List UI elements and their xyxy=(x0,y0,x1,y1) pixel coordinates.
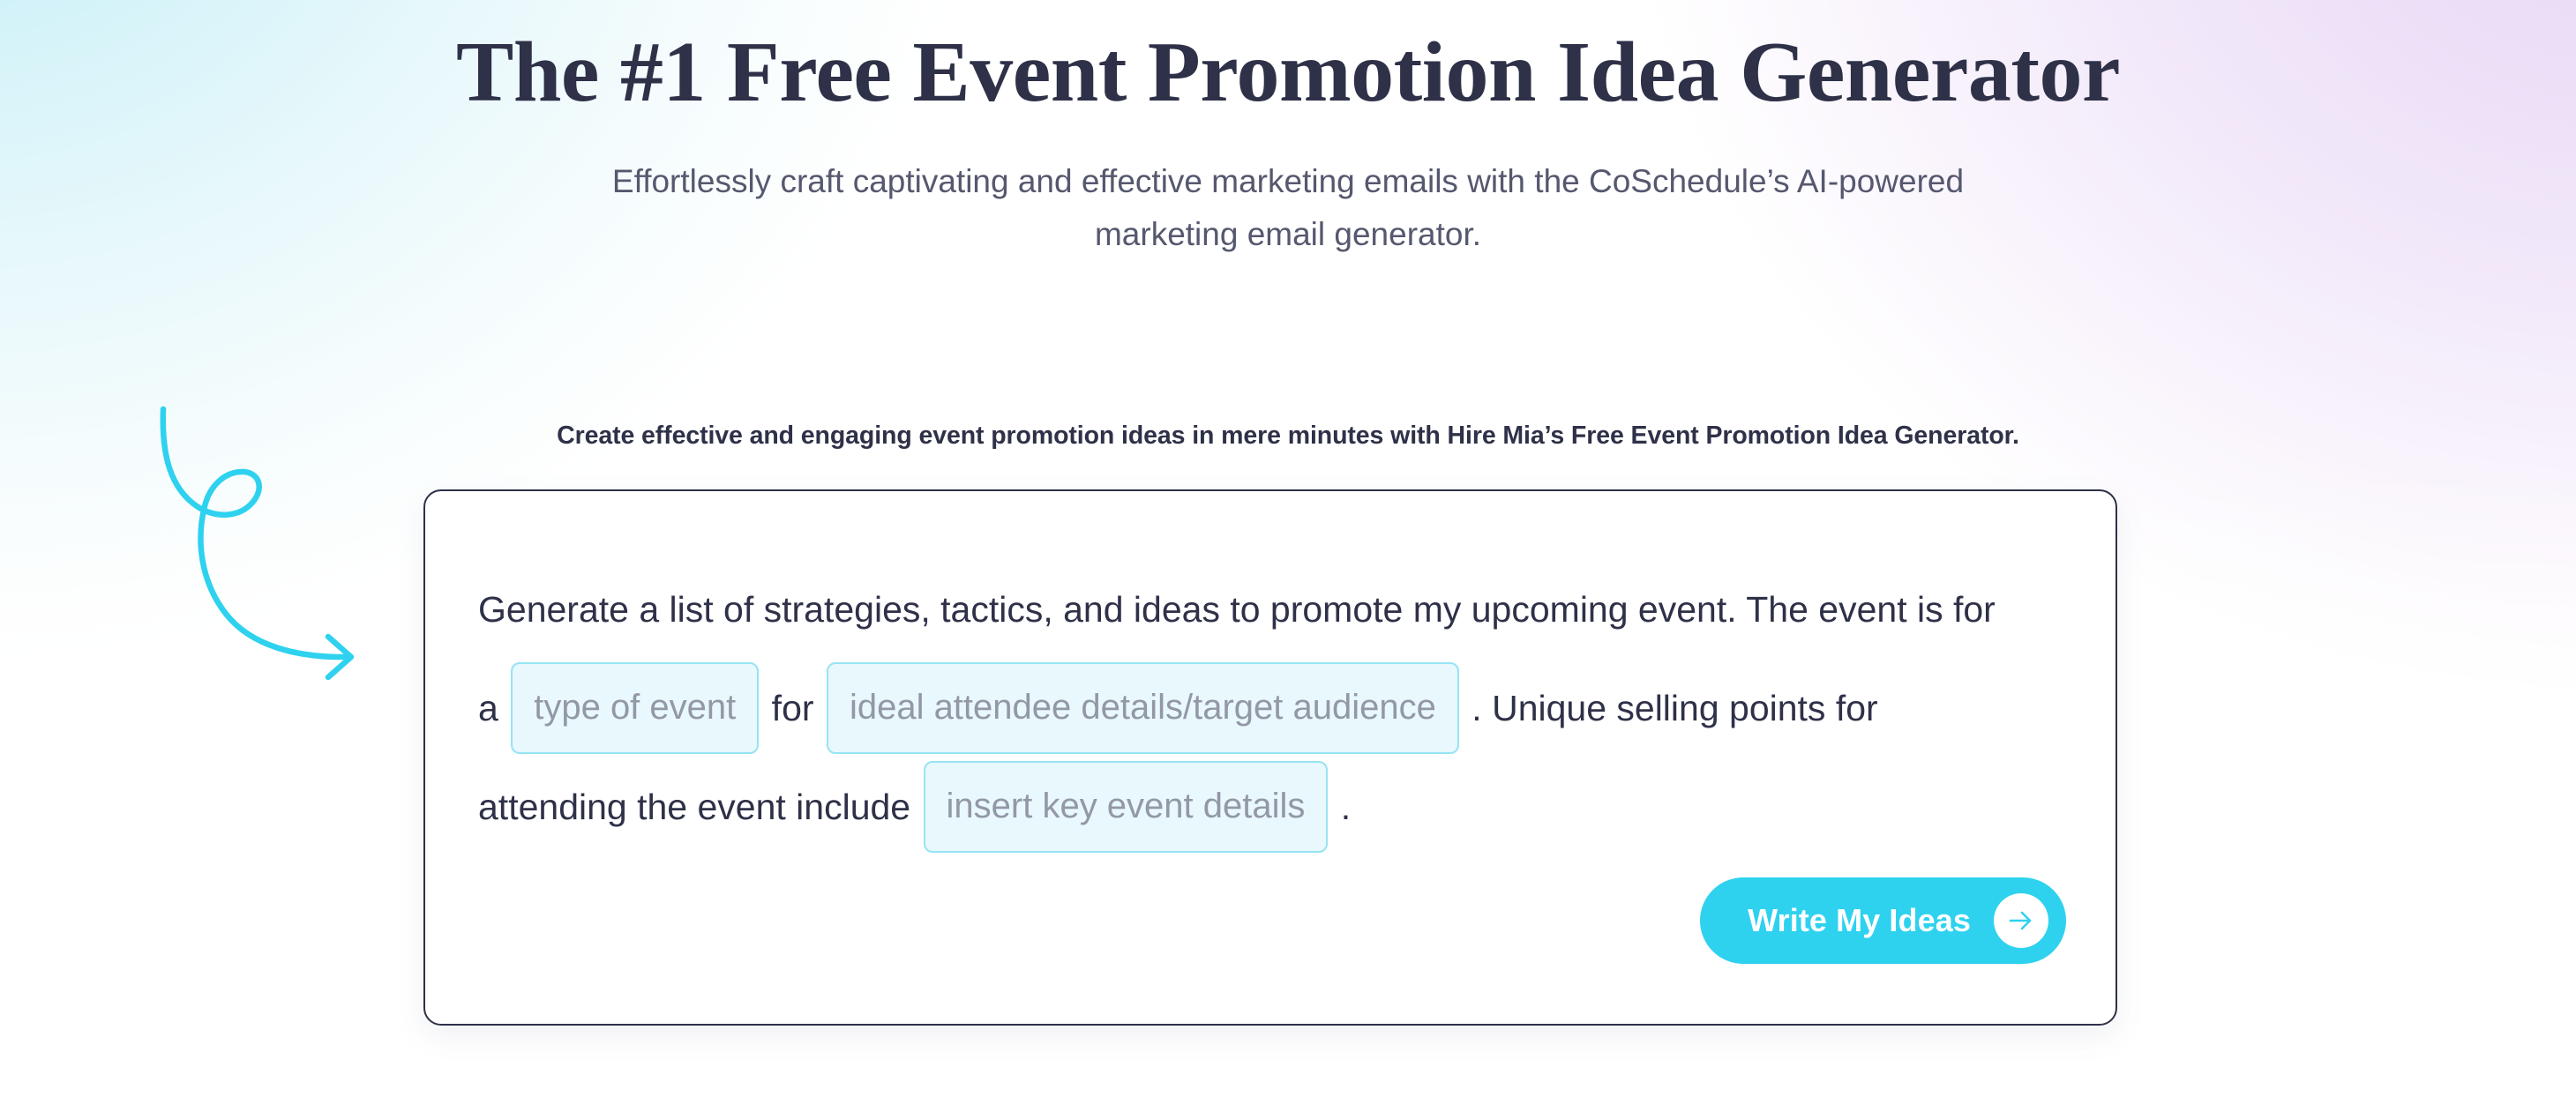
write-my-ideas-label: Write My Ideas xyxy=(1748,902,1971,939)
key-event-details-input[interactable]: insert key event details xyxy=(924,761,1329,853)
prompt-text-4: . Unique selling points for xyxy=(1471,688,1877,728)
event-type-input[interactable]: type of event xyxy=(511,662,759,754)
prompt-text-2: a xyxy=(478,688,498,728)
page-subtitle: Effortlessly craft captivating and effec… xyxy=(573,155,2003,261)
prompt-text-1: Generate a list of strategies, tactics, … xyxy=(478,589,1996,630)
curly-arrow-icon xyxy=(155,393,446,693)
page-title: The #1 Free Event Promotion Idea Generat… xyxy=(0,25,2576,122)
prompt-text-3: for xyxy=(772,688,814,728)
prompt-card: Generate a list of strategies, tactics, … xyxy=(423,489,2117,1026)
arrow-right-icon xyxy=(1994,893,2048,948)
prompt-text-6: . xyxy=(1341,787,1351,827)
page-root: The #1 Free Event Promotion Idea Generat… xyxy=(0,0,2576,1097)
prompt-template: Generate a list of strategies, tactics, … xyxy=(478,560,2066,856)
target-audience-input[interactable]: ideal attendee details/target audience xyxy=(827,662,1459,754)
hero-section: The #1 Free Event Promotion Idea Generat… xyxy=(0,0,2576,261)
write-my-ideas-button[interactable]: Write My Ideas xyxy=(1700,877,2066,964)
submit-row: Write My Ideas xyxy=(1700,877,2066,964)
prompt-text-5: attending the event include xyxy=(478,787,910,827)
